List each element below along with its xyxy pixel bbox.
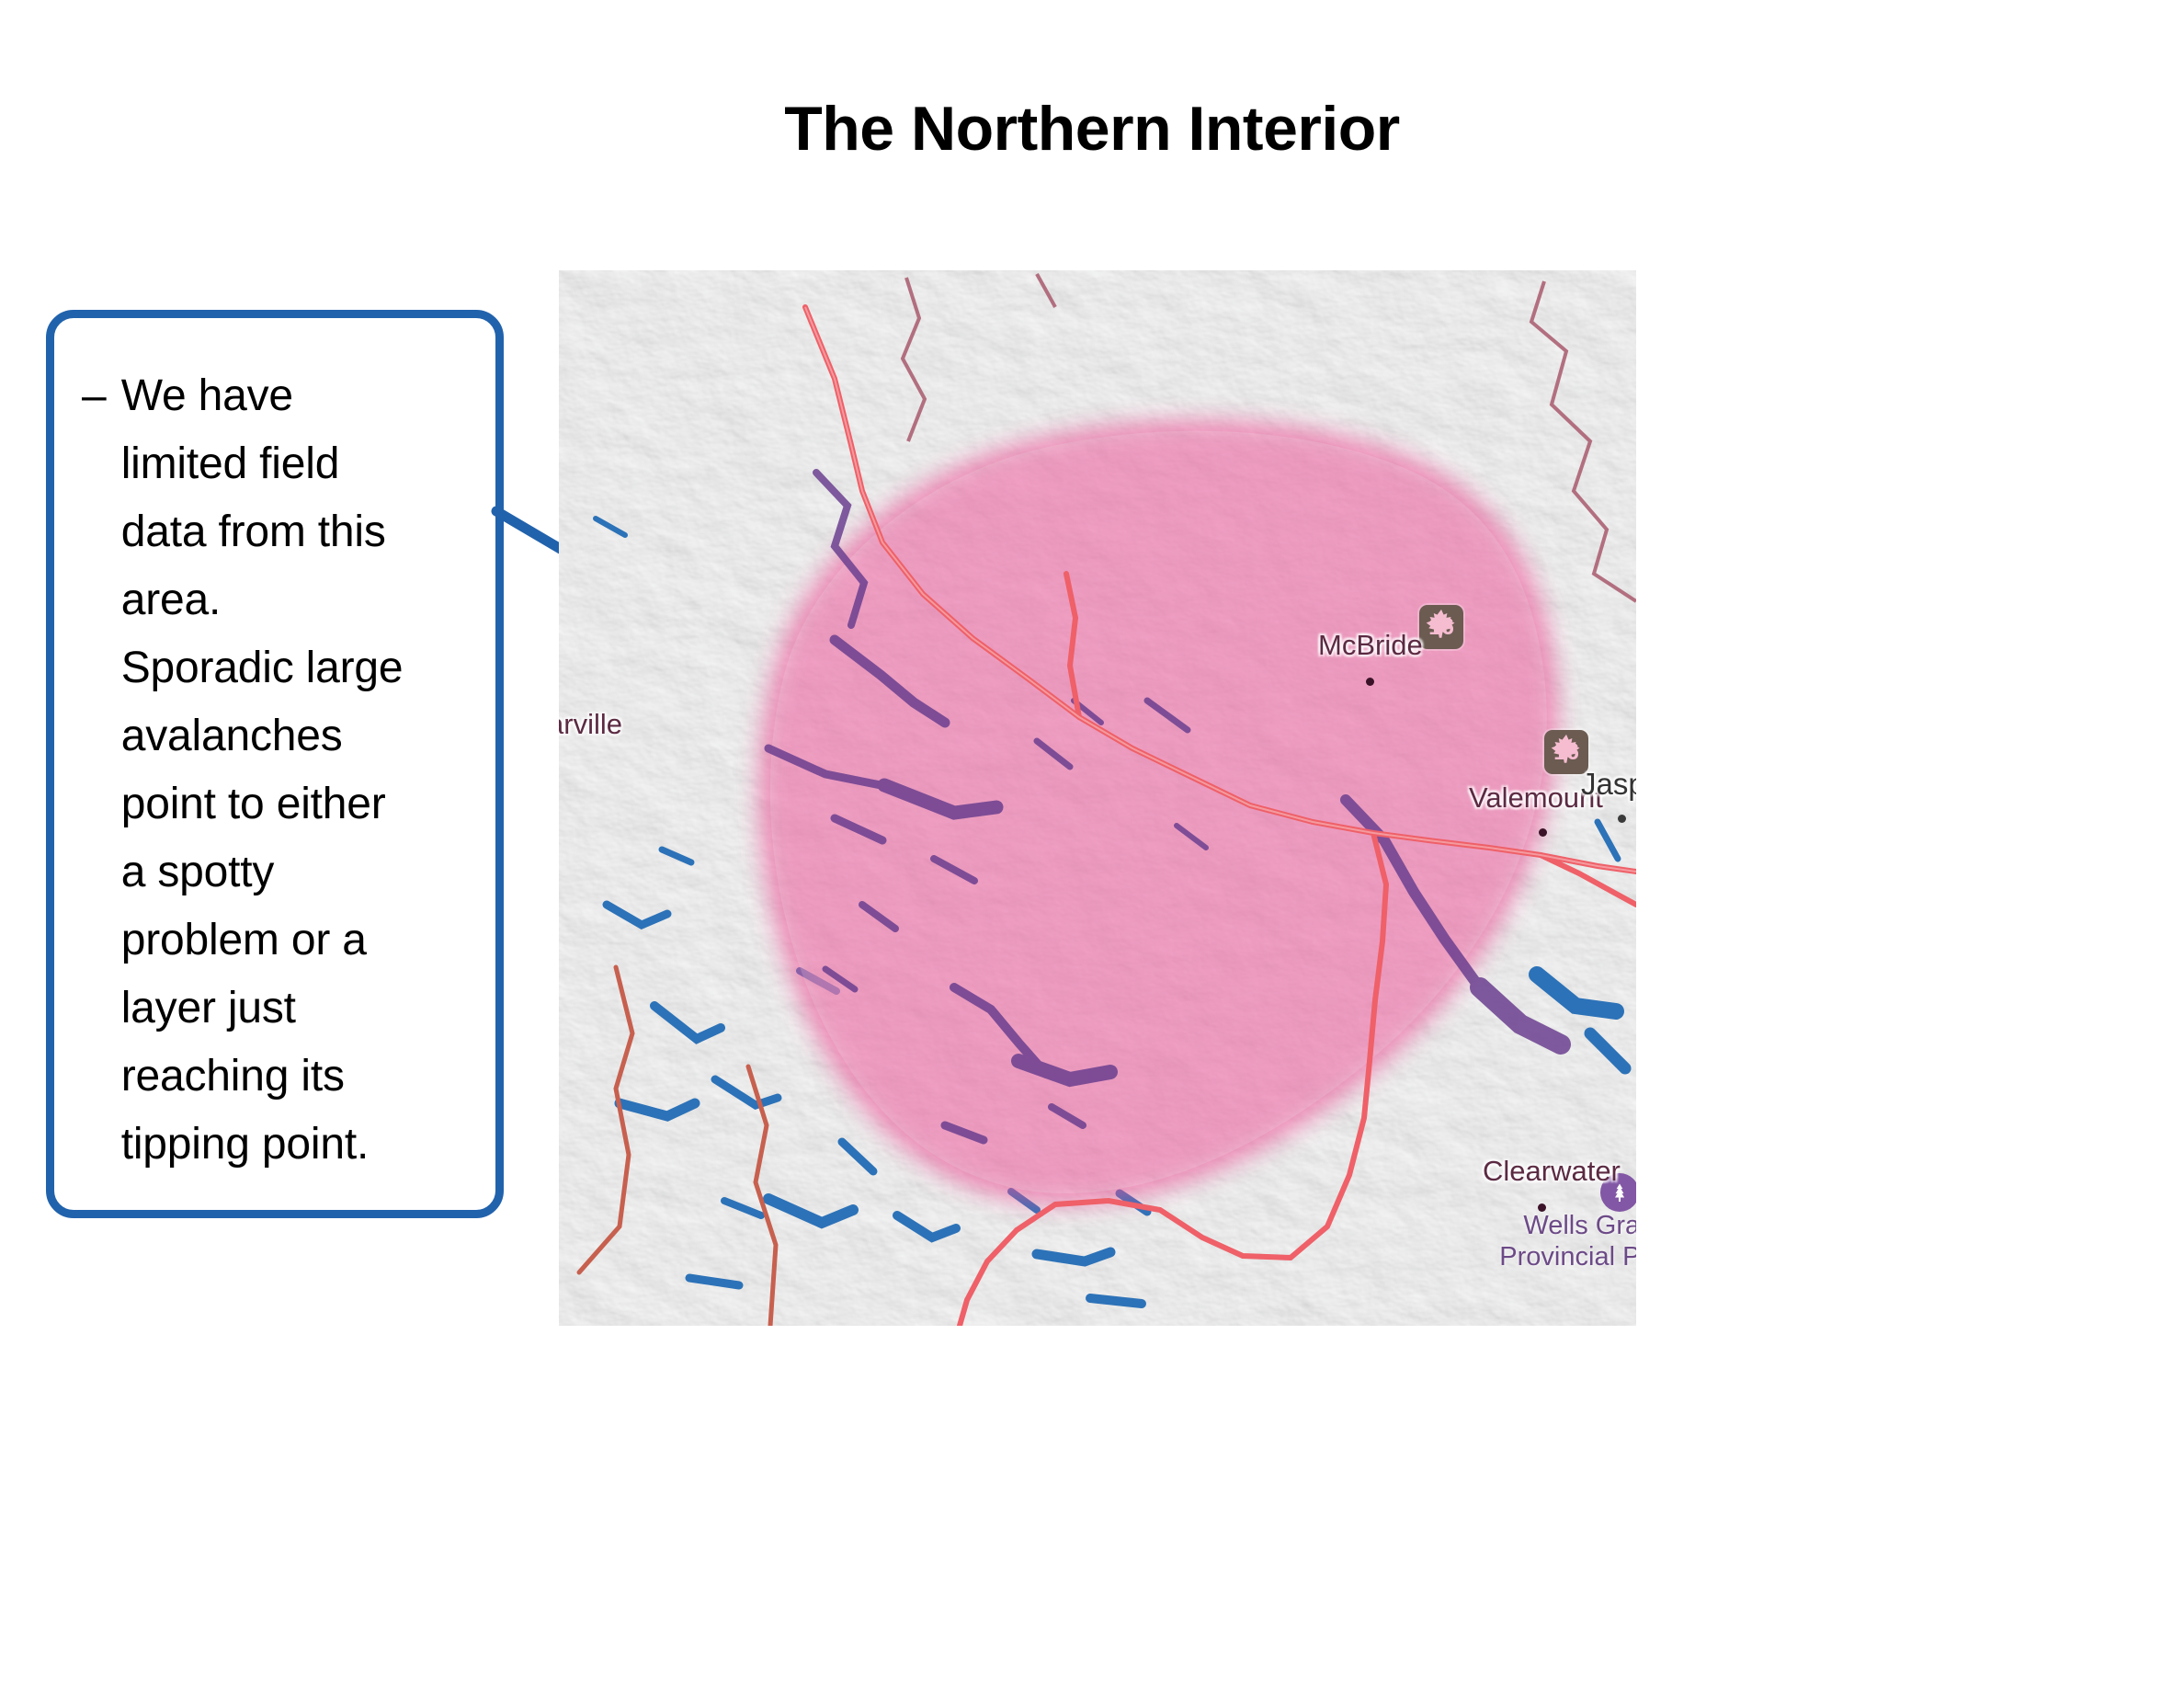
highway-shield-16: 16 [1544, 730, 1588, 774]
tree-glyph [1609, 1181, 1631, 1203]
city-dot-jasper [1618, 815, 1626, 823]
city-dot-clearwater [1538, 1203, 1546, 1212]
callout-body: – We have limited field data from this a… [82, 362, 483, 1179]
city-dot-valemount [1539, 828, 1547, 837]
map-canvas [559, 270, 1636, 1326]
tree-icon [1600, 1173, 1636, 1212]
highway-number: 16 [1428, 616, 1454, 639]
highway-number: 16 [1553, 741, 1579, 764]
callout-text-box[interactable]: – We have limited field data from this a… [46, 310, 504, 1218]
map-image[interactable]: 16 16 16 Wells Gray Provincial Park McBr… [559, 270, 1636, 1326]
bullet-dash: – [82, 362, 121, 430]
page-title: The Northern Interior [0, 97, 2184, 160]
highway-shield-16: 16 [1419, 605, 1463, 649]
city-dot-mcbride [1366, 678, 1374, 686]
callout-text: We have limited field data from this are… [121, 362, 404, 1179]
